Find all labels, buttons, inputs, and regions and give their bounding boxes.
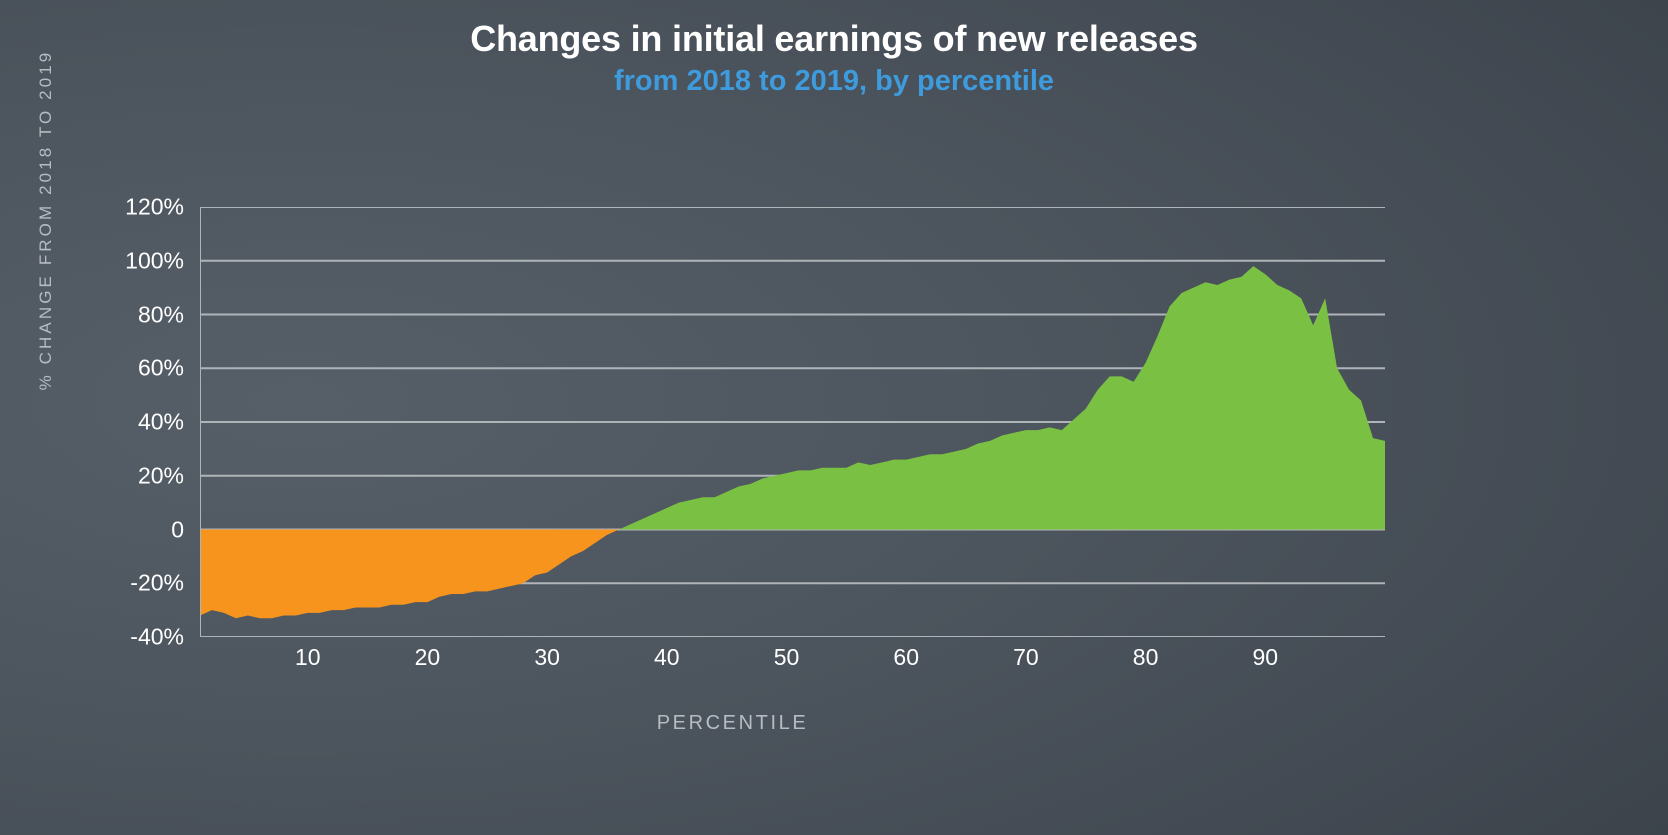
chart-page: Changes in initial earnings of new relea…	[0, 0, 1668, 835]
y-tick-label: 120%	[104, 194, 184, 221]
x-tick-label: 40	[654, 644, 680, 671]
area-chart-svg	[200, 207, 1385, 637]
x-tick-label: 10	[295, 644, 321, 671]
plot-area	[200, 207, 1385, 637]
x-tick-label: 20	[415, 644, 441, 671]
y-tick-label: -20%	[104, 570, 184, 597]
title-block: Changes in initial earnings of new relea…	[0, 18, 1668, 99]
y-tick-label: 20%	[104, 462, 184, 489]
y-axis-title: % CHANGE FROM 2018 TO 2019	[36, 10, 56, 430]
page-subtitle: from 2018 to 2019, by percentile	[0, 65, 1668, 98]
y-tick-label: 60%	[104, 355, 184, 382]
x-tick-label: 60	[893, 644, 919, 671]
y-tick-label: 40%	[104, 409, 184, 436]
y-axis-tick-labels: -40%-20%020%40%60%80%100%120%	[104, 207, 184, 637]
x-tick-label: 70	[1013, 644, 1039, 671]
x-tick-label: 90	[1253, 644, 1279, 671]
y-tick-label: 80%	[104, 301, 184, 328]
x-axis-title: PERCENTILE	[0, 712, 1465, 735]
x-tick-label: 30	[534, 644, 560, 671]
x-axis-tick-labels: 102030405060708090	[200, 644, 1385, 678]
y-tick-label: -40%	[104, 624, 184, 651]
x-tick-label: 50	[774, 644, 800, 671]
y-tick-label: 100%	[104, 247, 184, 274]
y-tick-label: 0	[104, 516, 184, 543]
page-title: Changes in initial earnings of new relea…	[0, 18, 1668, 59]
x-tick-label: 80	[1133, 644, 1159, 671]
